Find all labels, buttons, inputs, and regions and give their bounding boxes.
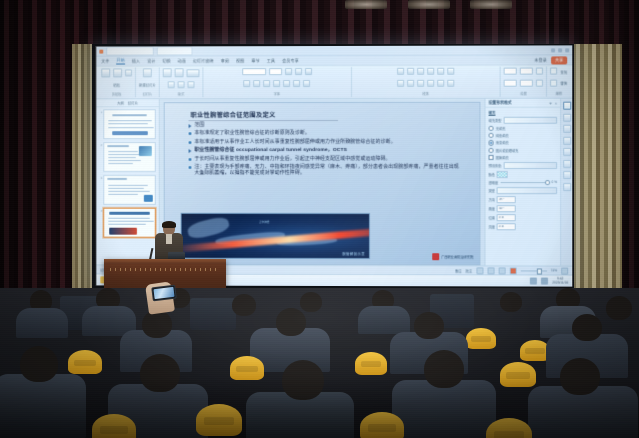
radio-solid-fill[interactable]	[489, 133, 494, 138]
title-underline	[189, 120, 338, 121]
color-label: 颜色	[489, 172, 495, 177]
thumb-text-line	[108, 157, 136, 158]
direction-spinner[interactable]: 45 °	[497, 196, 516, 203]
ribbon-group-name: 字体	[274, 91, 280, 96]
audience-head	[414, 312, 444, 339]
audience-head	[142, 310, 172, 338]
replace-icon[interactable]	[550, 79, 557, 86]
line-spacing-icon[interactable]	[437, 68, 444, 75]
thumbnail-item[interactable]: 2	[99, 142, 155, 172]
theme-icon[interactable]	[187, 81, 194, 88]
anatomy-label: 正中神经	[259, 220, 269, 224]
direction-row: 方向 45 °	[489, 196, 558, 203]
thumb-text-line	[108, 154, 142, 155]
ribbon-group-label: 粘贴	[113, 82, 120, 87]
transparency-row: 透明度 0 %	[489, 180, 558, 185]
taskbar-clock[interactable]: 9:42 2023/11/16	[552, 278, 568, 285]
menu-item-animation[interactable]: 动画	[178, 58, 186, 64]
anatomy-caption: 腕管解剖示意	[342, 251, 365, 256]
fill-type-select[interactable]	[503, 117, 557, 124]
brightness-row: 亮度 0 %	[489, 223, 558, 230]
find-icon[interactable]	[550, 67, 557, 74]
hard-hat	[486, 418, 532, 438]
hard-hat	[360, 412, 404, 438]
preset-color-label: 预设颜色	[489, 163, 502, 168]
thumbnail-list[interactable]: 1 2	[96, 107, 158, 264]
size-icon[interactable]	[563, 125, 571, 133]
zoom-level[interactable]: 74%	[551, 269, 557, 273]
hard-hat	[196, 404, 242, 436]
thumbnail-slide[interactable]	[103, 142, 155, 172]
fill-type-row: 填充类型	[489, 117, 558, 124]
bullet-text: 职业性腕管综合征 occupational carpal tunnel synd…	[194, 148, 347, 154]
ceiling-light	[345, 0, 387, 9]
position-value: 0 %	[499, 216, 504, 220]
radio-label: 纯色填充	[496, 133, 509, 138]
audience-shoulders	[392, 380, 496, 438]
thumb-text-line	[108, 194, 138, 195]
audience-shoulders	[16, 308, 68, 338]
columns-icon[interactable]	[437, 79, 444, 86]
radio-no-fill[interactable]	[489, 126, 494, 131]
thumb-text-line	[108, 218, 150, 219]
document-tab[interactable]	[157, 46, 193, 55]
view-sorter-icon[interactable]	[487, 267, 494, 274]
thumb-text-line	[108, 163, 133, 164]
ribbon-group-name: 编辑	[556, 91, 562, 96]
menu-item-section[interactable]: 章节	[251, 58, 259, 64]
app-logo-icon	[99, 49, 103, 53]
thumb-text-line	[108, 160, 141, 161]
close-icon[interactable]: ×	[555, 100, 557, 105]
radio-row-picture-fill[interactable]: 图片或纹理填充	[489, 147, 558, 152]
notes-button[interactable]: 备注	[455, 268, 461, 273]
font-color-icon[interactable]	[293, 80, 300, 87]
menu-item-slideshow[interactable]: 幻灯片放映	[193, 58, 214, 64]
brightness-spinner[interactable]: 0 %	[497, 223, 516, 230]
convert-smartart-icon[interactable]	[447, 79, 454, 86]
thumbnail-number: 4	[99, 208, 102, 213]
transparency-slider[interactable]	[500, 180, 549, 184]
paste-icon[interactable]	[101, 69, 110, 78]
view-normal-icon[interactable]	[476, 267, 483, 274]
ribbon-group-name: 段落	[422, 91, 428, 96]
radio-label: 渐变填充	[496, 140, 509, 145]
view-reading-icon[interactable]	[498, 267, 505, 274]
color-swatch[interactable]	[497, 171, 508, 178]
thumb-text-line	[108, 123, 148, 124]
thumb-accent-band	[112, 131, 148, 135]
audience-head	[232, 294, 256, 316]
slide-title[interactable]: 职业性腕管综合征范围及定义	[191, 110, 276, 119]
speaker-hair	[162, 221, 176, 228]
task-pane-icon-strip	[560, 99, 572, 266]
menu-item-member[interactable]: 会员专享	[282, 58, 299, 64]
strikethrough-icon[interactable]	[273, 80, 280, 87]
phone-screen	[153, 287, 174, 299]
audience-area	[0, 288, 639, 438]
radio-row-solid-fill[interactable]: 纯色填充	[489, 133, 558, 138]
bullet-text: 本标准适用于从事作业工人长时间从事重复性腕部屈伸或用力作业所致腕管综合征的诊断。	[194, 140, 395, 146]
ribbon-group-name: 剪贴板	[112, 91, 121, 96]
smartphone	[151, 285, 177, 302]
direction-label: 方向	[489, 197, 495, 202]
arrow-bullet-icon	[189, 124, 192, 128]
position-row: 位置 0 %	[489, 214, 558, 221]
bullet-row: 职业性腕管综合征 occupational carpal tunnel synd…	[189, 148, 464, 154]
share-button[interactable]: 共享	[551, 56, 567, 64]
thumb-photo	[139, 146, 152, 156]
color-row: 颜色	[489, 171, 558, 178]
current-slide[interactable]: 职业性腕管综合征范围及定义 范围 本标准规定了职业性腕管综合征的诊断原则及诊断。	[164, 102, 481, 266]
institute-name: 广西职业病防治研究院	[441, 254, 473, 259]
highlight-icon[interactable]	[303, 80, 310, 87]
align-icon[interactable]	[563, 171, 571, 179]
hard-hat	[500, 362, 536, 387]
thumbnail-slide[interactable]	[103, 208, 155, 238]
align-right-icon[interactable]	[417, 79, 424, 86]
background-icon[interactable]	[178, 81, 185, 88]
slide-canvas-pane: 职业性腕管综合征范围及定义 范围 本标准规定了职业性腕管综合征的诊断原则及诊断。	[160, 99, 485, 266]
thumb-text-line	[108, 188, 144, 189]
bullet-row: 注：主要表现为手部疼痛、无力、中指和环指夜间感觉异常（麻木、疼痛），部分患者会出…	[189, 165, 464, 177]
shape-gallery[interactable]	[504, 68, 517, 75]
shape-effects-icon[interactable]	[536, 79, 543, 86]
clock-date: 2023/11/16	[552, 281, 568, 284]
more-icon[interactable]	[563, 183, 571, 191]
italic-icon[interactable]	[253, 80, 260, 87]
direction-value: 45 °	[499, 198, 504, 202]
shape-outline-select[interactable]	[520, 79, 533, 86]
grow-font-icon[interactable]	[285, 68, 292, 75]
justify-icon[interactable]	[427, 79, 434, 86]
document-tab[interactable]	[106, 47, 154, 56]
audience-head	[276, 308, 306, 336]
layout-icon[interactable]	[163, 68, 172, 77]
ribbon-toolbar: 粘贴 剪贴板 新建幻灯片 幻灯片	[96, 65, 572, 99]
ribbon-group-label: 新建幻灯片	[139, 82, 156, 87]
shape-fill-icon[interactable]	[536, 68, 543, 75]
slide-thumbnail-pane: 大纲 幻灯片 1	[96, 99, 159, 264]
task-pane-title: 设置形状格式	[489, 100, 512, 105]
menu-item-tools[interactable]: 工具	[267, 58, 275, 64]
menu-item-review[interactable]: 审阅	[221, 58, 229, 64]
bullet-text: 于长时间从事重复性腕部屈伸或用力作业后，引起正中神经支配区域中感觉或运动障碍。	[194, 157, 390, 163]
hard-hat	[355, 352, 387, 375]
ribbon-group-font: 字体	[203, 67, 351, 97]
align-left-icon[interactable]	[397, 79, 404, 86]
checkbox-label: 图案填充	[496, 155, 509, 160]
ribbon-group-editing: 查找 替换 编辑	[547, 66, 570, 96]
thumb-image	[109, 228, 137, 235]
speaker-shirt	[166, 234, 172, 244]
dot-bullet-icon	[189, 166, 192, 169]
thumb-logo	[144, 195, 153, 202]
clear-format-icon[interactable]	[305, 68, 312, 75]
close-icon[interactable]	[565, 48, 569, 52]
bullets-icon[interactable]	[397, 68, 404, 75]
menu-item-design[interactable]: 设计	[147, 58, 155, 64]
ribbon-group-name: 幻灯片	[143, 91, 152, 96]
slide-body-text[interactable]: 范围 本标准规定了职业性腕管综合征的诊断原则及诊断。 本标准适用于从事作业工人长…	[189, 123, 464, 178]
radio-picture-fill[interactable]	[489, 147, 494, 152]
volume-icon[interactable]	[541, 278, 548, 285]
thumbnail-slide[interactable]	[103, 175, 155, 205]
thumb-title-bar	[107, 145, 129, 147]
bullet-row: 本标准规定了职业性腕管综合征的诊断原则及诊断。	[189, 131, 464, 137]
network-icon[interactable]	[530, 278, 537, 285]
bullet-text: 注：主要表现为手部疼痛、无力、中指和环指夜间感觉异常（麻木、疼痛），部分患者会出…	[194, 165, 463, 177]
radio-label: 无填充	[496, 126, 506, 131]
bullet-text: 本标准规定了职业性腕管综合征的诊断原则及诊断。	[194, 131, 309, 137]
slide-size-icon[interactable]	[168, 81, 175, 88]
thumbnail-item[interactable]: 1	[99, 109, 155, 139]
seat-back	[190, 298, 236, 330]
ceiling-light	[470, 0, 512, 9]
audience-head	[500, 292, 522, 312]
podium-top-edge	[104, 259, 226, 264]
format-task-pane: 设置形状格式 ⌖ × 填充 填充类型 无填充	[484, 99, 560, 266]
ribbon-group-paragraph: 段落	[352, 67, 501, 97]
radio-row-no-fill[interactable]: 无填充	[489, 126, 558, 131]
audience-head	[282, 360, 324, 400]
replace-label: 替换	[560, 81, 567, 86]
arrange-select[interactable]	[504, 79, 517, 86]
fill-icon[interactable]	[563, 102, 571, 110]
copy-icon[interactable]	[113, 68, 122, 77]
thumb-text-line	[108, 127, 154, 128]
thumbnail-pane-tabs: 大纲 幻灯片	[96, 99, 158, 107]
tab-slides[interactable]: 幻灯片	[128, 100, 138, 105]
preset-color-row: 预设颜色	[489, 162, 558, 169]
numbering-icon[interactable]	[407, 68, 414, 75]
gradient-type-select[interactable]	[497, 187, 557, 194]
hard-hat	[230, 356, 264, 380]
audience-head	[20, 346, 58, 382]
checkbox-pattern-fill[interactable]	[489, 155, 494, 160]
ribbon-group-name: 版式	[178, 91, 184, 96]
quick-style-gallery[interactable]	[520, 68, 533, 75]
hard-hat	[466, 328, 496, 349]
text-icon[interactable]	[563, 136, 571, 144]
checkbox-row-pattern-fill[interactable]: 图案填充	[489, 155, 558, 160]
font-size-select[interactable]	[269, 68, 282, 75]
slide-anatomy-image[interactable]: 正中神经 腕管解剖示意	[181, 213, 370, 259]
pin-icon[interactable]: ⌖	[549, 100, 551, 105]
thumb-title-bar	[107, 178, 127, 180]
ceiling-light	[408, 0, 450, 9]
section-label-fill: 填充	[489, 110, 558, 115]
ribbon-group-layout: 版式	[160, 67, 204, 97]
find-label: 查找	[560, 69, 567, 74]
decrease-indent-icon[interactable]	[417, 68, 424, 75]
audience-shoulders	[0, 374, 86, 438]
brightness-label: 亮度	[489, 224, 495, 229]
position-spinner[interactable]: 0 %	[497, 214, 516, 221]
ribbon-group-name: 绘图	[520, 91, 526, 96]
account-status-label[interactable]: 未登录	[534, 57, 547, 63]
slide-footer-logo: 广西职业病防治研究院	[432, 253, 473, 260]
ribbon-group-slides: 新建幻灯片 幻灯片	[136, 67, 160, 97]
zoom-slider[interactable]	[520, 270, 546, 271]
menu-item-view[interactable]: 视图	[236, 58, 244, 64]
thumbnail-number: 3	[99, 175, 102, 180]
thumbnail-number: 1	[99, 109, 102, 114]
angle-row: 角度 90 °	[489, 205, 558, 212]
maximize-icon[interactable]	[558, 48, 562, 52]
thumb-text-line	[108, 151, 138, 152]
position-label: 位置	[489, 215, 495, 220]
thumb-text-line	[108, 191, 150, 192]
menu-item-transition[interactable]: 切换	[162, 58, 170, 64]
menu-item-home[interactable]: 开始	[117, 58, 125, 65]
audience-head	[606, 296, 632, 320]
effects-icon[interactable]	[563, 113, 571, 121]
menu-item-insert[interactable]: 插入	[132, 58, 140, 64]
gold-curtain-right	[568, 44, 622, 328]
comments-button[interactable]: 批注	[466, 268, 472, 273]
hard-hat	[68, 350, 102, 374]
thumbnail-slide[interactable]	[103, 109, 155, 139]
bullet-row: 本标准适用于从事作业工人长时间从事重复性腕部屈伸或用力作业所致腕管综合征的诊断。	[189, 140, 464, 146]
tab-outline[interactable]: 大纲	[117, 100, 124, 105]
section-icon[interactable]	[186, 69, 199, 77]
lecture-hall-photo: 文件 开始 插入 设计 切换 动画 幻灯片放映 审阅 视图 章节 工具 会员专享…	[0, 0, 639, 438]
format-painter-icon[interactable]	[125, 69, 132, 76]
fit-window-icon[interactable]	[561, 267, 568, 274]
align-center-icon[interactable]	[407, 79, 414, 86]
underline-icon[interactable]	[263, 80, 270, 87]
reset-icon[interactable]	[175, 68, 184, 77]
transparency-label: 透明度	[489, 180, 499, 185]
dot-bullet-icon	[189, 141, 192, 144]
brightness-value: 0 %	[499, 225, 504, 229]
angle-value: 90 °	[499, 207, 504, 211]
shadow-icon[interactable]	[283, 80, 290, 87]
thumb-text-line	[108, 120, 152, 121]
radio-row-gradient-fill[interactable]: 渐变填充	[489, 140, 558, 145]
transparency-value: 0 %	[552, 181, 558, 185]
font-family-select[interactable]	[242, 68, 266, 75]
picture-icon[interactable]	[563, 148, 571, 156]
increase-indent-icon[interactable]	[427, 68, 434, 75]
layout-icon[interactable]	[563, 159, 571, 167]
fill-type-label: 填充类型	[489, 118, 502, 123]
new-slide-icon[interactable]	[143, 68, 152, 77]
task-pane-header: 设置形状格式 ⌖ ×	[486, 99, 561, 108]
thumb-title-bar	[109, 212, 150, 215]
thumbnail-item[interactable]: 3	[99, 175, 155, 205]
angle-label: 角度	[489, 206, 495, 211]
view-slideshow-icon[interactable]	[509, 267, 516, 274]
thumbnail-number: 2	[99, 142, 102, 147]
audience-head	[300, 292, 322, 312]
angle-spinner[interactable]: 90 °	[497, 205, 516, 212]
dot-bullet-icon	[189, 158, 192, 161]
audience-head	[572, 314, 602, 341]
thumb-text-line	[108, 221, 154, 222]
audience-head	[140, 354, 180, 392]
minimize-icon[interactable]	[551, 48, 555, 52]
bullet-row: 范围	[189, 123, 464, 129]
audience-head	[424, 350, 464, 388]
bullet-row: 于长时间从事重复性腕部屈伸或用力作业后，引起正中神经支配区域中感觉或运动障碍。	[189, 157, 464, 163]
menu-item-file[interactable]: 文件	[101, 58, 109, 64]
ribbon-group-clipboard: 粘贴 剪贴板	[98, 67, 136, 97]
text-direction-icon[interactable]	[447, 68, 454, 75]
bullet-text: 范围	[194, 123, 204, 129]
task-pane-body: 填充 填充类型 无填充 纯色填充	[486, 108, 561, 266]
institute-logo-icon	[432, 253, 439, 260]
bold-icon[interactable]	[243, 80, 250, 87]
radio-label: 图片或纹理填充	[496, 148, 518, 153]
ribbon-group-drawing: 绘图	[501, 67, 547, 97]
thumb-text-line	[108, 185, 148, 186]
gradient-type-row: 类型	[489, 187, 558, 194]
thumb-text-line	[108, 224, 146, 225]
preset-color-select[interactable]	[503, 162, 557, 169]
audience-head	[560, 358, 600, 395]
audience-shoulders	[358, 306, 410, 334]
hard-hat	[92, 414, 136, 438]
gradient-type-label: 类型	[489, 188, 495, 193]
thumb-title-bar	[112, 114, 147, 116]
dot-bullet-icon	[189, 133, 192, 136]
arrow-bullet-icon	[189, 149, 192, 153]
shrink-font-icon[interactable]	[295, 68, 302, 75]
podium-trim	[110, 268, 220, 271]
thumbnail-item-selected[interactable]: 4	[99, 208, 155, 238]
radio-gradient-fill[interactable]	[489, 140, 494, 145]
